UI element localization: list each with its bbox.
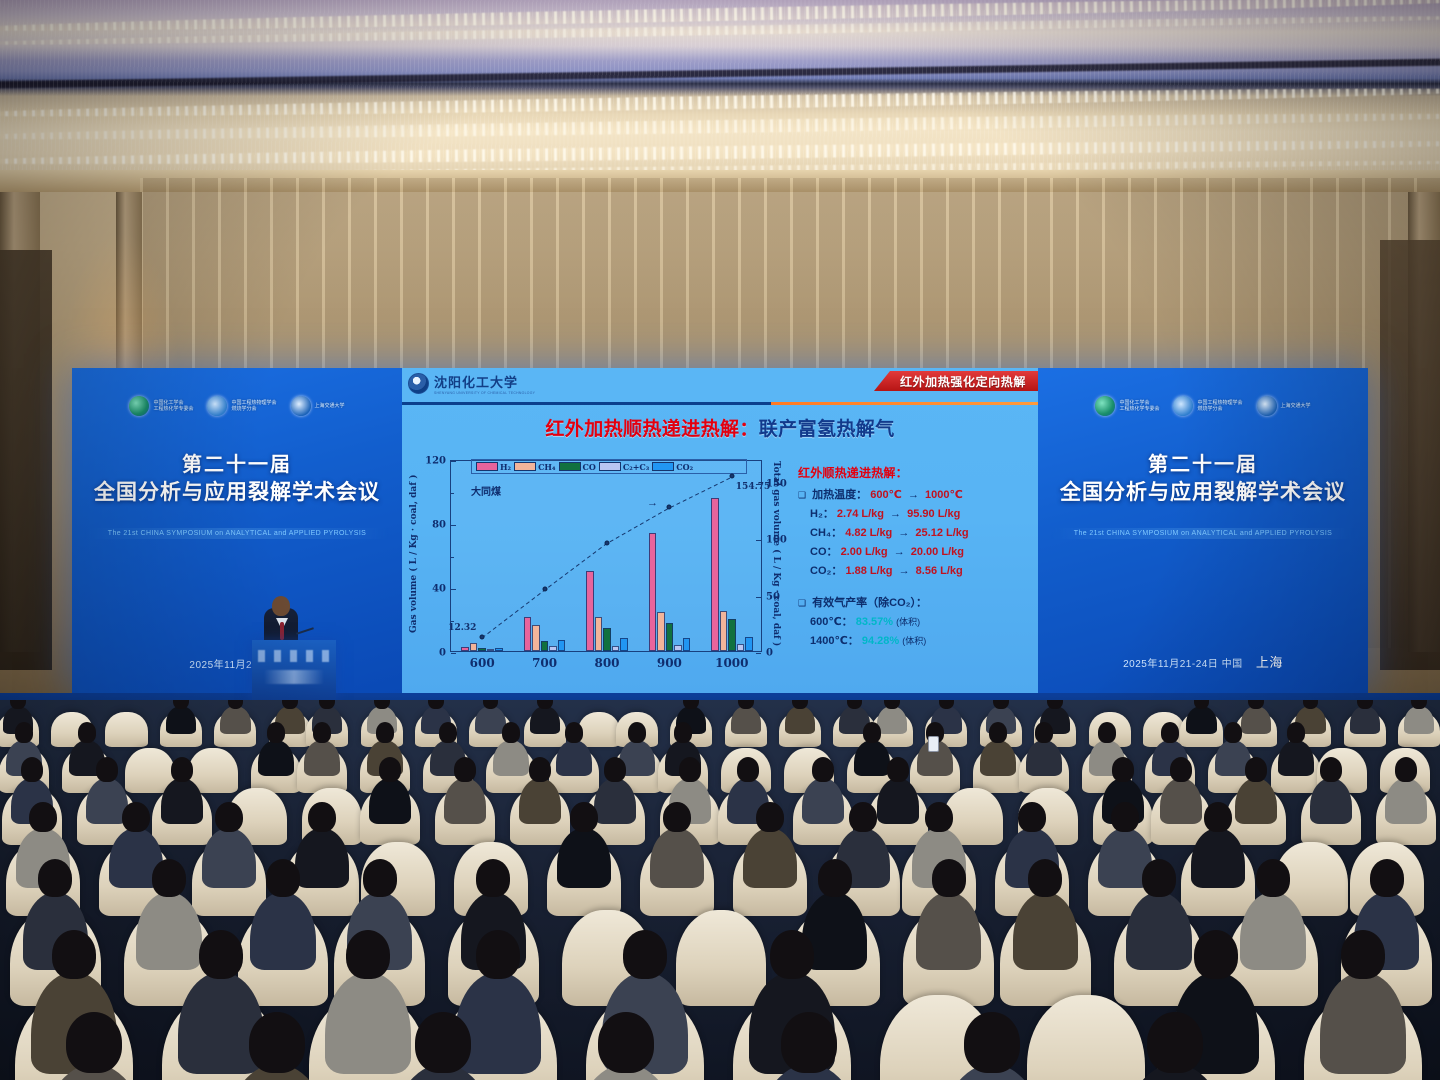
y-tickmark <box>451 461 456 462</box>
audience-head <box>989 722 1007 743</box>
audience-head <box>15 722 33 743</box>
chandelier-crystal-veil <box>0 0 1440 178</box>
audience-head <box>570 802 598 833</box>
logo-label-line2: 燃烧学分会 <box>231 406 256 412</box>
audience-head <box>964 1012 1019 1074</box>
species-label: CO₂： <box>810 565 842 577</box>
audience-head <box>415 1012 470 1074</box>
line-point-label-600: 12.32 <box>448 623 476 633</box>
species-to: 25.12 L/kg <box>915 527 968 539</box>
conference-date-location: 2025年11月21-24日 中国 上海 <box>1038 652 1368 671</box>
seal-icon <box>291 396 311 416</box>
y-tickmark <box>451 525 456 526</box>
audience-head <box>1147 1012 1202 1074</box>
speaker-tie <box>280 622 284 640</box>
city-text: 上海 <box>1256 655 1283 670</box>
audience-head <box>199 930 243 980</box>
audience-head <box>66 1012 121 1074</box>
header-rule <box>402 402 1038 405</box>
species-from: 1.88 L/kg <box>845 565 892 577</box>
x-tick-700: 700 <box>532 656 557 670</box>
audience-head <box>1170 757 1192 782</box>
y2-tickmark <box>756 540 761 541</box>
temp-to: 1000℃ <box>925 489 963 501</box>
line-point-900 <box>667 505 672 510</box>
audience-head <box>781 1012 836 1074</box>
efficiency-unit: (体积) <box>902 636 926 646</box>
logo-label-line2: 上海交通大学 <box>315 403 345 409</box>
x-tick-600: 600 <box>470 656 495 670</box>
audience-head <box>313 722 331 743</box>
audience-head <box>1111 802 1139 833</box>
slide-text-panel: 红外顺热递进热解： ❑ 加热温度： 600℃ → 1000℃ H₂： 2.74 … <box>798 464 1034 651</box>
conference-edition-title: 第二十一届 <box>1038 448 1368 477</box>
audience-person <box>1241 706 1271 734</box>
audience-head <box>266 859 300 897</box>
audience-head <box>756 802 784 833</box>
logo-engineering-thermophysics: 中国工程热物理学会 燃烧学分会 <box>1173 396 1242 416</box>
audience-head <box>29 802 57 833</box>
species-label: CH₄： <box>810 527 842 539</box>
y-axis-label-left: Gas volume ( L / Kg · coal, daf ) <box>406 456 422 652</box>
species-to: 95.90 L/kg <box>907 508 960 520</box>
efficiency-temp: 1400℃： <box>810 635 859 647</box>
y2-tickmark <box>756 653 761 654</box>
gas-volume-chart: Gas volume ( L / Kg · coal, daf ) Total … <box>406 456 786 686</box>
x-tick-900: 900 <box>657 656 682 670</box>
heating-temperature-label: 加热温度： <box>812 489 867 501</box>
temp-from: 600℃ <box>870 489 902 501</box>
panel-heading: 红外顺热递进热解： <box>798 464 1034 481</box>
podium-logo-strip <box>258 650 330 662</box>
podium-text-strip <box>264 670 324 684</box>
audience-head <box>1370 859 1404 897</box>
audience-head <box>628 722 646 743</box>
audience-head <box>267 722 285 743</box>
audience-head <box>925 802 953 833</box>
date-text: 2025年11月21-24日 <box>1123 659 1218 670</box>
audience-head <box>10 700 26 709</box>
audience-head <box>1194 930 1238 980</box>
arrow-icon: → <box>898 527 909 539</box>
y-minor-tickmark <box>451 493 454 494</box>
conference-subtitle-en: The 21st CHINA SYMPOSIUM on ANALYTICAL a… <box>1050 528 1356 539</box>
audience-person <box>731 706 761 734</box>
audience-person <box>1186 706 1216 734</box>
audience-head <box>38 859 72 897</box>
species-row-co: CO： 2.00 L/kg → 20.00 L/kg <box>798 543 1034 559</box>
audience-head <box>476 930 520 980</box>
audience-head <box>96 757 118 782</box>
audience-head <box>1161 722 1179 743</box>
audience-head <box>884 700 900 709</box>
audience-head <box>737 757 759 782</box>
sponsor-logos: 中国化工学会 工程热化学专委会 中国工程热物理学会 燃烧学分会 上海交通大学 <box>72 396 402 416</box>
arrow-icon: → <box>890 508 901 520</box>
slide-title-red: 红外加热顺热递进热解： <box>545 419 758 440</box>
audience-head <box>439 722 457 743</box>
conference-edition-title: 第二十一届 <box>72 448 402 477</box>
species-from: 2.00 L/kg <box>841 546 888 558</box>
audience-head <box>1204 802 1232 833</box>
audience-person <box>530 706 560 734</box>
y-tick-80: 80 <box>432 520 451 531</box>
x-tick-1000: 1000 <box>715 656 748 670</box>
audience-head <box>565 722 583 743</box>
audience-head <box>932 859 966 897</box>
audience-chair <box>105 712 147 746</box>
globe-icon <box>1095 396 1115 416</box>
effective-gas-yield-row: ❑ 有效气产率（除CO₂）： <box>798 594 1034 610</box>
species-label: H₂： <box>810 508 834 520</box>
audience-head <box>1248 700 1264 709</box>
audience-head <box>215 802 243 833</box>
species-label: CO： <box>810 546 838 558</box>
line-point-600 <box>480 635 485 640</box>
audience-head <box>476 859 510 897</box>
presentation-slide: 沈阳化工大学 SHENYANG UNIVERSITY OF CHEMICAL T… <box>402 368 1038 693</box>
bullet-square-icon: ❑ <box>798 598 806 608</box>
secondary-axis-arrow-icon: → <box>647 497 658 509</box>
audience-chair <box>578 712 620 746</box>
efficiency-row-600: 600℃： 83.57% (体积) <box>798 613 1034 629</box>
y-tick-0: 0 <box>439 648 451 659</box>
audience-head <box>887 757 909 782</box>
efficiency-temp: 600℃： <box>810 616 853 628</box>
raised-smartphone <box>928 736 939 752</box>
line-point-800 <box>605 540 610 545</box>
y2-tickmark <box>756 484 761 485</box>
line-point-1000 <box>729 474 734 479</box>
audience-head <box>122 802 150 833</box>
audience-head <box>537 700 553 709</box>
ceiling <box>0 0 1440 178</box>
wall-shadow-right <box>1380 240 1440 670</box>
heating-temperature-row: ❑ 加热温度： 600℃ → 1000℃ <box>798 486 1034 502</box>
conference-date: 2025年11月21-24日 <box>72 656 402 671</box>
species-from: 4.82 L/kg <box>845 527 892 539</box>
audience-head <box>502 722 520 743</box>
sponsor-logos: 中国化工学会 工程热化学专委会 中国工程热物理学会 燃烧学分会 上海交通大学 <box>1038 396 1368 416</box>
audience-head <box>529 757 551 782</box>
logo-label-line2: 燃烧学分会 <box>1197 406 1222 412</box>
species-row-h2: H₂： 2.74 L/kg → 95.90 L/kg <box>798 505 1034 521</box>
audience-head <box>1018 802 1046 833</box>
audience-head <box>21 757 43 782</box>
audience-head <box>1028 859 1062 897</box>
audience-head <box>598 1012 653 1074</box>
audience-head <box>1287 722 1305 743</box>
university-name: 沈阳化工大学 <box>434 372 535 391</box>
y2-tick-50: 50 <box>761 591 780 602</box>
audience-head <box>663 802 691 833</box>
arrow-icon: → <box>899 565 910 577</box>
conference-name-title: 全国分析与应用裂解学术会议 <box>72 476 402 506</box>
audience-head <box>770 930 814 980</box>
audience-head <box>674 722 692 743</box>
audience-head <box>173 700 189 709</box>
wave-icon <box>207 396 227 416</box>
audience-person <box>166 706 196 734</box>
audience-person <box>785 706 815 734</box>
audience-head <box>818 859 852 897</box>
audience-head <box>1395 757 1417 782</box>
y2-tick-0: 0 <box>761 648 773 659</box>
audience-person <box>1160 778 1203 824</box>
audience-head <box>1256 859 1290 897</box>
section-ribbon: 红外加热强化定向热解 <box>874 371 1038 391</box>
audience-person <box>1350 706 1380 734</box>
efficiency-pct: 83.57% <box>856 616 893 628</box>
y-minor-tickmark <box>451 621 454 622</box>
led-left-panel: 中国化工学会 工程热化学专委会 中国工程热物理学会 燃烧学分会 上海交通大学 第… <box>72 368 402 693</box>
species-to: 8.56 L/kg <box>916 565 963 577</box>
audience-head <box>604 757 626 782</box>
conference-hall-photo: 中国化工学会 工程热化学专委会 中国工程热物理学会 燃烧学分会 上海交通大学 第… <box>0 0 1440 1080</box>
audience-person <box>802 778 845 824</box>
y2-tickmark <box>756 597 761 598</box>
audience-head <box>363 859 397 897</box>
audience-head <box>171 757 193 782</box>
y2-tick-150: 150 <box>761 478 787 489</box>
audience-head <box>849 802 877 833</box>
logo-china-chemical-industry-society: 中国化工学会 工程热化学专委会 <box>129 396 193 416</box>
audience-head <box>249 1012 304 1074</box>
arrow-icon: → <box>908 489 919 501</box>
plot-area: H₂CH₄COC₂+C₃CO₂ 大同煤 12.32154.75 04080120… <box>450 460 762 652</box>
speaker-head <box>272 596 290 616</box>
line-point-700 <box>542 587 547 592</box>
y-minor-tickmark <box>451 557 454 558</box>
logo-shanghai-jiao-tong-university: 上海交通大学 <box>1257 396 1311 416</box>
audience-head <box>1142 859 1176 897</box>
audience-head <box>1357 700 1373 709</box>
audience-head <box>1245 757 1267 782</box>
audience-head <box>1224 722 1242 743</box>
wall-shadow-left <box>0 250 52 670</box>
logo-shanghai-jiao-tong-university: 上海交通大学 <box>291 396 345 416</box>
efficiency-row-1400: 1400℃： 94.28% (体积) <box>798 632 1034 648</box>
audience-head <box>379 757 401 782</box>
y2-tick-100: 100 <box>761 535 787 546</box>
seal-icon <box>1257 396 1277 416</box>
audience-head <box>52 930 96 980</box>
audience-head <box>152 859 186 897</box>
logo-china-chemical-industry-society: 中国化工学会 工程热化学专委会 <box>1095 396 1159 416</box>
slide-title-blue: 联产富氢热解气 <box>759 419 895 440</box>
audience-head <box>738 700 754 709</box>
audience-head <box>1320 757 1342 782</box>
y-tick-120: 120 <box>425 456 451 467</box>
logo-label-line2: 工程热化学专委会 <box>153 406 193 412</box>
wave-icon <box>1173 396 1193 416</box>
effective-gas-yield-label: 有效气产率（除CO₂）： <box>812 597 927 609</box>
x-tick-800: 800 <box>594 656 619 670</box>
y-tickmark <box>451 653 456 654</box>
audience-head <box>812 757 834 782</box>
conference-subtitle-en: The 21st CHINA SYMPOSIUM on ANALYTICAL a… <box>84 528 390 539</box>
logo-engineering-thermophysics: 中国工程热物理学会 燃烧学分会 <box>207 396 276 416</box>
efficiency-pct: 94.28% <box>862 635 899 647</box>
audience-head <box>1035 722 1053 743</box>
audience-head <box>1098 722 1116 743</box>
globe-icon <box>129 396 149 416</box>
audience-head <box>376 722 394 743</box>
audience-head <box>623 930 667 980</box>
audience-head <box>993 700 1009 709</box>
audience-head <box>78 722 96 743</box>
slide-title: 红外加热顺热递进热解：联产富氢热解气 <box>402 414 1038 441</box>
audience <box>0 700 1440 1080</box>
audience-head <box>454 757 476 782</box>
audience-head <box>308 802 336 833</box>
audience-person <box>743 828 796 888</box>
species-from: 2.74 L/kg <box>837 508 884 520</box>
y-tickmark <box>451 589 456 590</box>
audience-head <box>282 700 298 709</box>
audience-chair <box>1027 995 1145 1080</box>
logo-label-line2: 工程热化学专委会 <box>1119 406 1159 412</box>
slide-header: 沈阳化工大学 SHENYANG UNIVERSITY OF CHEMICAL T… <box>402 368 1038 404</box>
audience-person <box>493 740 528 776</box>
audience-head <box>679 757 701 782</box>
audience-head <box>1112 757 1134 782</box>
audience-person <box>877 706 907 734</box>
species-row-ch4: CH₄： 4.82 L/kg → 25.12 L/kg <box>798 524 1034 540</box>
audience-person <box>220 706 250 734</box>
university-logo: 沈阳化工大学 SHENYANG UNIVERSITY OF CHEMICAL T… <box>408 372 535 395</box>
audience-head <box>374 700 390 709</box>
university-seal-icon <box>408 373 429 394</box>
audience-head <box>863 722 881 743</box>
conference-name-title: 全国分析与应用裂解学术会议 <box>1038 476 1368 506</box>
led-right-panel: 中国化工学会 工程热化学专委会 中国工程热物理学会 燃烧学分会 上海交通大学 第… <box>1038 368 1368 693</box>
audience-head <box>1341 930 1385 980</box>
audience-person <box>444 778 487 824</box>
audience-person <box>1404 706 1434 734</box>
species-row-co2: CO₂： 1.88 L/kg → 8.56 L/kg <box>798 562 1034 578</box>
y-tick-40: 40 <box>432 584 451 595</box>
total-gas-line <box>451 461 761 652</box>
podium <box>252 640 336 702</box>
bullet-square-icon: ❑ <box>798 490 806 500</box>
audience-head <box>346 930 390 980</box>
university-name-en: SHENYANG UNIVERSITY OF CHEMICAL TECHNOLO… <box>434 391 535 395</box>
audience-chair <box>676 910 767 1006</box>
efficiency-unit: (体积) <box>896 617 920 627</box>
country-text: 中国 <box>1222 659 1243 670</box>
spacer <box>798 581 1034 591</box>
species-to: 20.00 L/kg <box>911 546 964 558</box>
logo-label-line2: 上海交通大学 <box>1281 403 1311 409</box>
arrow-icon: → <box>894 546 905 558</box>
